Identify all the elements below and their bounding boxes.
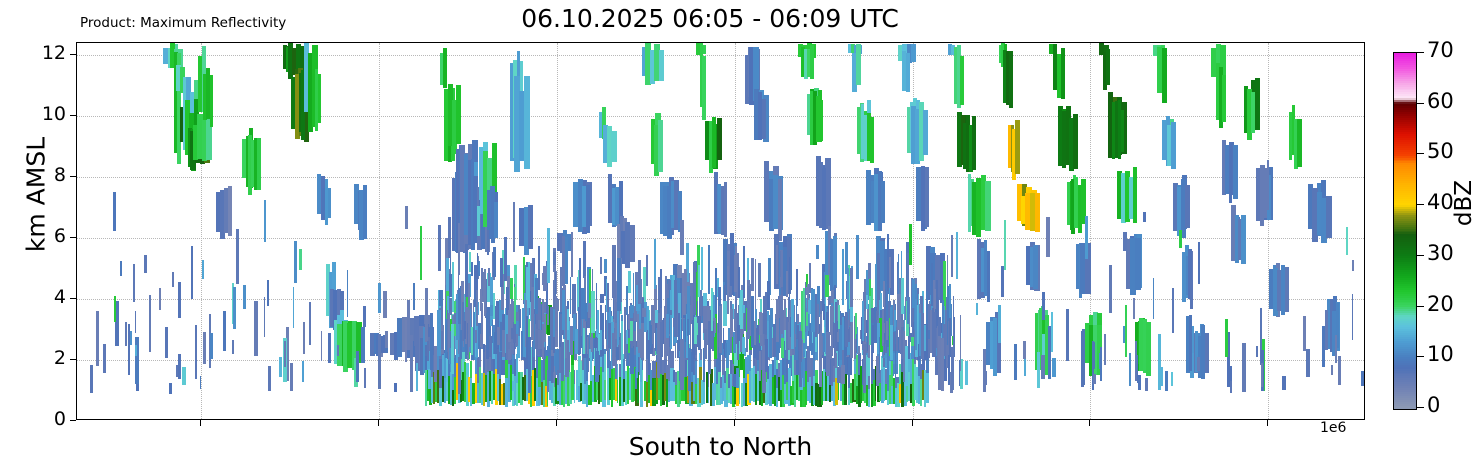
- echo-column: [500, 258, 503, 287]
- echo-column: [1001, 266, 1004, 298]
- echo-column: [715, 268, 716, 315]
- echo-column: [460, 330, 462, 359]
- echo-column: [1121, 110, 1124, 152]
- echo-column: [513, 202, 515, 252]
- echo-column: [603, 332, 605, 345]
- echo-column: [829, 346, 831, 359]
- echo-column: [516, 312, 519, 321]
- echo-column: [470, 361, 472, 378]
- echo-column: [223, 311, 226, 351]
- echo-column: [595, 351, 599, 381]
- echo-column: [571, 232, 573, 277]
- echo-column: [1256, 346, 1258, 357]
- echo-column: [636, 347, 638, 378]
- echo-column: [103, 344, 105, 374]
- echo-column: [680, 220, 683, 255]
- colorbar-tick-label: 20: [1427, 292, 1454, 316]
- echo-column: [835, 353, 837, 368]
- echo-column: [1133, 167, 1138, 223]
- echo-column: [1326, 196, 1332, 238]
- echo-column: [870, 117, 874, 163]
- echo-column: [425, 288, 427, 341]
- echo-column: [1205, 333, 1209, 373]
- echo-column: [959, 360, 961, 386]
- echo-column: [513, 322, 516, 343]
- echo-column: [1306, 349, 1309, 376]
- echo-column: [845, 242, 848, 274]
- echo-column: [887, 347, 889, 391]
- echo-column: [1061, 48, 1066, 99]
- echo-column: [438, 225, 442, 271]
- echo-column: [1037, 352, 1039, 387]
- echo-column: [781, 338, 784, 359]
- echo-column: [723, 301, 727, 327]
- echo-column: [839, 325, 841, 360]
- echo-column: [612, 333, 615, 366]
- echo-column: [443, 48, 446, 88]
- echo-column: [801, 362, 803, 378]
- echo-column: [191, 246, 193, 299]
- echo-column: [670, 351, 674, 368]
- echo-column: [1015, 120, 1019, 174]
- echo-column: [687, 319, 689, 336]
- echo-column: [471, 262, 473, 276]
- colorbar-tick-label: 10: [1427, 342, 1454, 366]
- echo-column: [378, 283, 381, 313]
- echo-column: [701, 247, 703, 290]
- plot-area: [76, 42, 1365, 420]
- echo-column: [742, 337, 744, 354]
- echo-column: [233, 287, 236, 329]
- echo-column: [1052, 358, 1055, 377]
- echo-column: [822, 168, 825, 230]
- echo-column: [464, 321, 466, 339]
- echo-column: [734, 318, 736, 328]
- echo-column: [125, 322, 127, 346]
- echo-column: [1093, 374, 1096, 384]
- x-tick-mark: [1089, 420, 1090, 426]
- echo-column: [90, 365, 93, 393]
- echo-column: [420, 226, 422, 281]
- echo-column: [1041, 355, 1045, 379]
- echo-column: [718, 288, 720, 306]
- echo-column: [144, 255, 147, 273]
- echo-column: [591, 291, 595, 332]
- echo-column: [452, 262, 454, 312]
- echo-column: [926, 372, 929, 403]
- echo-column: [582, 316, 584, 354]
- echo-column: [543, 266, 546, 292]
- echo-column: [949, 284, 951, 318]
- echo-column: [724, 182, 728, 237]
- echo-column: [504, 237, 507, 281]
- echo-column: [776, 299, 779, 342]
- echo-column: [652, 361, 656, 379]
- echo-column: [1143, 212, 1146, 222]
- echo-column: [1004, 220, 1006, 270]
- echo-column: [583, 241, 586, 278]
- echo-column: [1222, 75, 1225, 122]
- echo-column: [600, 257, 602, 274]
- echo-column: [733, 374, 736, 388]
- echo-column: [1297, 119, 1301, 167]
- echo-column: [825, 275, 828, 297]
- echo-column: [799, 331, 802, 387]
- echo-column: [755, 259, 757, 311]
- echo-column: [657, 323, 660, 378]
- echo-column: [704, 329, 706, 359]
- echo-column: [264, 297, 266, 337]
- echo-column: [588, 335, 590, 373]
- echo-column: [135, 345, 137, 356]
- echo-column: [803, 288, 805, 343]
- echo-column: [751, 258, 754, 291]
- echo-column: [993, 318, 997, 376]
- echo-column: [742, 305, 745, 313]
- echo-column: [789, 257, 791, 301]
- echo-column: [553, 252, 556, 265]
- echo-column: [466, 363, 469, 374]
- echo-column: [1352, 260, 1354, 271]
- echo-column: [232, 340, 234, 355]
- echo-column: [987, 251, 991, 301]
- echo-column: [254, 301, 258, 356]
- x-tick-mark: [556, 420, 557, 426]
- echo-column: [694, 317, 697, 344]
- echo-column: [538, 246, 540, 290]
- echo-column: [948, 355, 950, 385]
- echo-column: [918, 294, 919, 345]
- y-tick-label: 6: [28, 225, 66, 247]
- echo-column: [776, 245, 779, 285]
- echo-column: [448, 217, 452, 258]
- echo-column: [708, 321, 711, 374]
- colorbar-tick-label: 40: [1427, 190, 1454, 214]
- echo-column: [1009, 51, 1013, 107]
- echo-column: [877, 253, 880, 300]
- echo-column: [911, 345, 914, 359]
- echo-column: [845, 312, 848, 347]
- echo-column: [600, 330, 602, 350]
- echo-column: [1073, 114, 1077, 169]
- echo-column: [1189, 315, 1192, 371]
- x-tick-mark: [734, 420, 735, 426]
- echo-column: [203, 332, 206, 364]
- echo-column: [1198, 242, 1201, 284]
- echo-column: [698, 316, 701, 350]
- colorbar-tick-mark: [1417, 356, 1424, 357]
- echo-column: [660, 320, 663, 357]
- echo-column: [747, 286, 750, 339]
- colorbar-tick-mark: [1417, 52, 1424, 53]
- echo-column: [616, 347, 619, 360]
- echo-column: [985, 181, 990, 231]
- echo-column: [688, 348, 691, 391]
- echo-column: [489, 336, 492, 357]
- colorbar-tick-label: 60: [1427, 89, 1454, 113]
- echo-column: [588, 303, 590, 319]
- echo-column: [1361, 371, 1365, 386]
- echo-column: [200, 376, 202, 390]
- echo-column: [1162, 48, 1167, 103]
- echo-column: [630, 305, 633, 318]
- echo-column: [753, 345, 756, 359]
- x-tick-mark: [200, 420, 201, 426]
- echo-column: [646, 255, 648, 286]
- echo-column: [835, 302, 837, 346]
- echo-column: [210, 333, 213, 359]
- echo-column: [114, 296, 116, 322]
- echo-column: [178, 282, 181, 318]
- echo-column: [850, 268, 853, 307]
- echo-column: [796, 297, 798, 338]
- echo-column: [815, 370, 818, 383]
- echo-column: [594, 337, 597, 348]
- echo-column: [719, 304, 722, 352]
- echo-column: [1197, 357, 1201, 371]
- echo-column: [765, 339, 768, 373]
- echo-column: [711, 288, 713, 330]
- echo-column: [328, 333, 332, 363]
- echo-column: [759, 351, 761, 381]
- x-tick-mark: [1267, 420, 1268, 426]
- echo-column: [458, 223, 459, 275]
- echo-column: [1135, 238, 1141, 290]
- echo-column: [762, 99, 767, 139]
- echo-column: [489, 320, 491, 332]
- echo-column: [737, 325, 740, 341]
- echo-column: [570, 277, 571, 313]
- echo-column: [1322, 326, 1325, 366]
- echo-column: [830, 306, 833, 335]
- echo-column: [487, 230, 489, 256]
- echo-column: [526, 316, 528, 369]
- echo-column: [437, 310, 441, 356]
- echo-column: [960, 56, 964, 105]
- echo-column: [475, 330, 477, 343]
- echo-column: [897, 294, 900, 330]
- echo-column: [780, 251, 782, 277]
- echo-column: [876, 356, 879, 386]
- echo-column: [700, 349, 702, 360]
- echo-column: [486, 348, 489, 359]
- echo-column: [642, 308, 645, 317]
- echo-column: [178, 354, 181, 379]
- echo-column: [862, 301, 865, 341]
- echo-column: [1325, 310, 1328, 349]
- echo-column: [1267, 160, 1269, 210]
- echo-column: [1225, 319, 1228, 358]
- echo-column: [135, 337, 139, 384]
- echo-column: [1251, 92, 1255, 133]
- echo-column: [135, 311, 137, 333]
- echo-column: [236, 229, 239, 284]
- echo-column: [923, 110, 928, 155]
- colorbar-tick-label: 70: [1427, 38, 1454, 62]
- echo-column: [407, 300, 410, 350]
- echo-column: [758, 263, 761, 297]
- echo-column: [328, 188, 331, 218]
- echo-column: [712, 117, 716, 168]
- echo-column: [439, 359, 442, 388]
- echo-column: [290, 363, 292, 391]
- echo-column: [690, 296, 691, 305]
- echo-column: [458, 357, 461, 393]
- colorbar-tick-mark: [1417, 306, 1424, 307]
- echo-column: [976, 303, 978, 315]
- echo-column: [1242, 343, 1246, 392]
- colorbar-tick-label: 50: [1427, 139, 1454, 163]
- echo-column: [581, 288, 584, 319]
- echo-column: [1285, 267, 1290, 313]
- echo-column: [488, 268, 490, 286]
- echo-column: [480, 289, 482, 311]
- echo-column: [120, 261, 122, 276]
- echo-column: [96, 311, 99, 366]
- echo-column: [586, 185, 590, 234]
- echo-column: [1109, 265, 1112, 313]
- echo-column: [195, 325, 197, 380]
- echo-column: [844, 346, 847, 357]
- echo-column: [521, 331, 522, 357]
- echo-column: [210, 75, 214, 128]
- echo-column: [494, 332, 497, 355]
- echo-column: [1282, 376, 1286, 390]
- echo-column: [284, 341, 286, 367]
- echo-column: [413, 283, 415, 310]
- echo-column: [869, 296, 871, 345]
- echo-column: [905, 346, 907, 386]
- echo-column: [128, 324, 130, 375]
- reflectivity-echoes: [77, 43, 1364, 419]
- colorbar-tick-mark: [1417, 153, 1424, 154]
- echo-column: [956, 232, 958, 279]
- echo-column: [561, 276, 563, 287]
- echo-column: [1106, 49, 1110, 85]
- echo-column: [611, 131, 616, 162]
- echo-column: [702, 56, 705, 120]
- echo-column: [1133, 298, 1135, 320]
- echo-column: [654, 239, 656, 289]
- echo-column: [1346, 227, 1348, 255]
- echo-column: [805, 282, 807, 333]
- echo-column: [257, 138, 261, 190]
- echo-column: [670, 315, 672, 349]
- echo-column: [817, 304, 819, 334]
- echo-column: [410, 335, 412, 392]
- y-tick-label: 8: [28, 164, 66, 186]
- echo-column: [228, 186, 233, 236]
- echo-column: [788, 350, 790, 359]
- echo-column: [725, 343, 727, 358]
- echo-column: [267, 280, 269, 306]
- echo-column: [468, 283, 470, 335]
- echo-column: [825, 158, 831, 229]
- echo-column: [1042, 292, 1045, 320]
- echo-column: [169, 383, 172, 394]
- y-tick-label: 10: [28, 103, 66, 125]
- echo-column: [383, 291, 387, 318]
- echo-column: [202, 260, 205, 279]
- echo-column: [909, 224, 912, 265]
- colorbar-tick-label: 0: [1427, 393, 1440, 417]
- echo-column: [624, 307, 626, 359]
- echo-column: [953, 296, 954, 348]
- echo-column: [1014, 344, 1017, 379]
- echo-column: [612, 245, 615, 297]
- colorbar-tick-label: 30: [1427, 241, 1454, 265]
- echo-column: [606, 279, 608, 312]
- echo-column: [738, 267, 741, 298]
- echo-column: [1082, 329, 1085, 385]
- echo-column: [439, 290, 443, 306]
- echo-column: [478, 261, 481, 276]
- echo-column: [644, 302, 647, 332]
- echo-column: [638, 329, 640, 353]
- echo-column: [931, 263, 934, 306]
- echo-column: [538, 357, 541, 386]
- echo-column: [596, 283, 598, 329]
- echo-column: [268, 366, 271, 391]
- echo-column: [928, 330, 930, 340]
- colorbar-tick-mark: [1417, 255, 1424, 256]
- echo-column: [811, 289, 814, 332]
- echo-column: [863, 344, 866, 393]
- echo-column: [965, 361, 969, 385]
- echo-column: [833, 236, 837, 287]
- echo-column: [937, 326, 939, 358]
- echo-column: [1104, 334, 1106, 365]
- echo-column: [1171, 372, 1173, 386]
- echo-column: [857, 327, 859, 354]
- echo-column: [363, 185, 367, 239]
- echo-column: [1261, 363, 1263, 387]
- echo-column: [293, 287, 295, 328]
- y-tick-label: 2: [28, 347, 66, 369]
- echo-column: [615, 323, 617, 339]
- echo-column: [823, 311, 824, 320]
- echo-column: [159, 288, 161, 310]
- echo-column: [577, 277, 579, 311]
- echo-column: [998, 305, 1002, 342]
- colorbar-tick-mark: [1417, 204, 1424, 205]
- echo-column: [717, 118, 722, 159]
- echo-column: [630, 348, 634, 373]
- echo-column: [911, 44, 916, 62]
- echo-column: [405, 206, 408, 229]
- echo-column: [895, 344, 897, 378]
- echo-column: [1046, 217, 1050, 257]
- echo-column: [630, 225, 635, 262]
- echo-column: [1100, 347, 1102, 382]
- echo-column: [1335, 335, 1337, 363]
- echo-column: [428, 369, 430, 390]
- echo-column: [561, 342, 564, 381]
- echo-column: [894, 310, 896, 331]
- echo-column: [924, 325, 926, 351]
- echo-column: [872, 325, 874, 350]
- echo-column: [1023, 341, 1025, 359]
- echo-column: [1125, 305, 1127, 358]
- echo-column: [678, 313, 680, 349]
- echo-column: [648, 340, 651, 375]
- echo-column: [337, 345, 339, 356]
- echo-column: [951, 347, 954, 390]
- echo-column: [451, 324, 454, 373]
- echo-column: [490, 305, 493, 316]
- echo-column: [347, 270, 349, 318]
- echo-column: [819, 333, 822, 387]
